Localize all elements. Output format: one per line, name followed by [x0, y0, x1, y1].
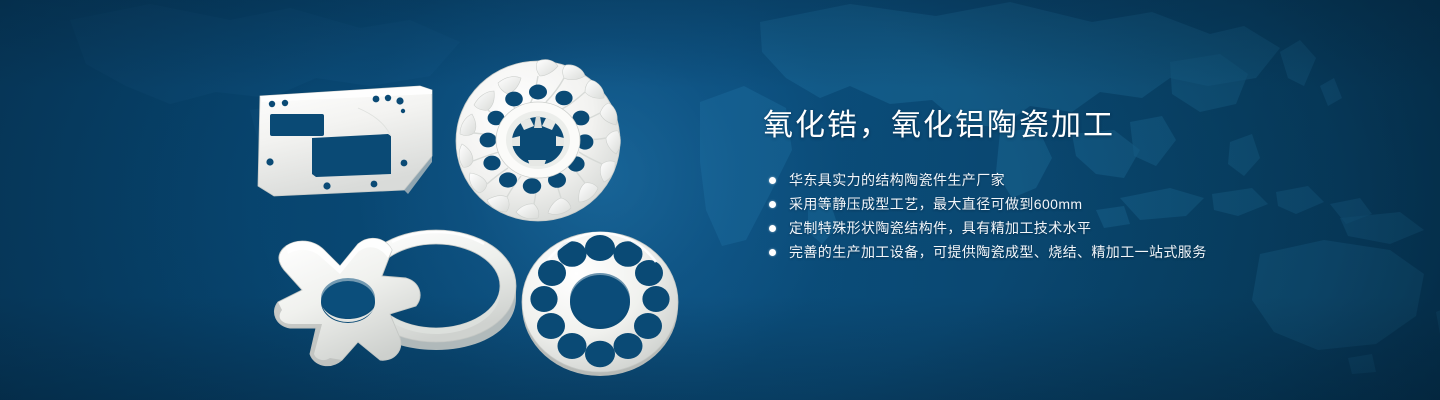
list-item: 定制特殊形状陶瓷结构件，具有精加工技术水平	[763, 216, 1383, 240]
feature-list: 华东具实力的结构陶瓷件生产厂家 采用等静压成型工艺，最大直径可做到600mm 定…	[763, 168, 1383, 264]
list-item-label: 完善的生产加工设备，可提供陶瓷成型、烧结、精加工一站式服务	[789, 240, 1207, 264]
banner-copy: 氧化锆，氧化铝陶瓷加工 华东具实力的结构陶瓷件生产厂家 采用等静压成型工艺，最大…	[763, 106, 1383, 280]
ceramic-machined-plate	[252, 78, 438, 202]
bullet-dot-icon	[769, 249, 776, 256]
bullet-dot-icon	[769, 225, 776, 232]
page-title: 氧化锆，氧化铝陶瓷加工	[763, 106, 1383, 146]
list-item-label: 采用等静压成型工艺，最大直径可做到600mm	[789, 192, 1082, 216]
list-item-label: 定制特殊形状陶瓷结构件，具有精加工技术水平	[789, 216, 1091, 240]
bullet-dot-icon	[769, 201, 776, 208]
bullet-dot-icon	[769, 177, 776, 184]
list-item-label: 华东具实力的结构陶瓷件生产厂家	[789, 168, 1005, 192]
list-item: 华东具实力的结构陶瓷件生产厂家	[763, 168, 1383, 192]
list-item: 完善的生产加工设备，可提供陶瓷成型、烧结、精加工一站式服务	[763, 240, 1383, 264]
ceramic-cross-plate	[254, 232, 454, 372]
product-photo-cluster	[0, 0, 720, 400]
hero-banner: 氧化锆，氧化铝陶瓷加工 华东具实力的结构陶瓷件生产厂家 采用等静压成型工艺，最大…	[0, 0, 1440, 400]
ceramic-perforated-ring	[518, 226, 684, 378]
ceramic-impeller-rotor	[450, 52, 630, 228]
list-item: 采用等静压成型工艺，最大直径可做到600mm	[763, 192, 1383, 216]
